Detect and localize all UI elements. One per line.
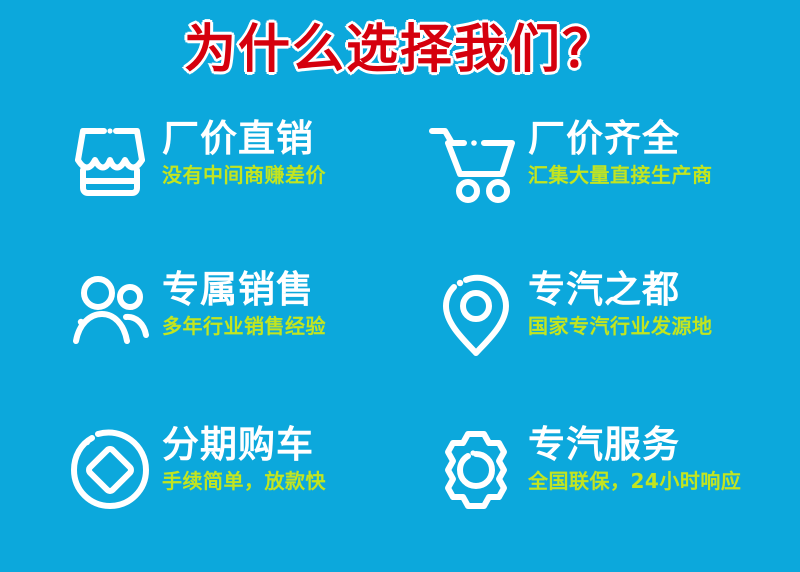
page-title: 为什么选择我们？ <box>184 22 616 79</box>
feature-text-block: 专汽之都 国家专汽行业发源地 <box>528 267 713 338</box>
feature-item-auto-capital: 专汽之都 国家专汽行业发源地 <box>400 267 800 422</box>
circle-diamond-icon <box>62 422 158 518</box>
feature-subtitle: 全国联保，24小时响应 <box>528 470 741 493</box>
feature-item-factory-direct: 厂价直销 没有中间商赚差价 <box>0 112 400 267</box>
feature-title: 专汽之都 <box>528 269 713 310</box>
feature-title: 厂价直销 <box>162 118 326 159</box>
feature-text-block: 厂价直销 没有中间商赚差价 <box>162 112 326 187</box>
feature-title: 专汽服务 <box>528 424 741 465</box>
feature-text-block: 分期购车 手续简单，放款快 <box>162 422 326 493</box>
feature-title: 分期购车 <box>162 424 326 465</box>
feature-text-block: 厂价齐全 汇集大量直接生产商 <box>528 112 713 187</box>
feature-subtitle: 没有中间商赚差价 <box>162 164 326 187</box>
feature-text-block: 专属销售 多年行业销售经验 <box>162 267 326 338</box>
two-people-icon <box>62 267 158 363</box>
shopping-cart-icon <box>428 112 524 208</box>
page-title-container: 为什么选择我们？ <box>0 22 800 79</box>
feature-item-installment: 分期购车 手续简单，放款快 <box>0 422 400 572</box>
feature-subtitle: 多年行业销售经验 <box>162 315 326 338</box>
feature-item-full-range: 厂价齐全 汇集大量直接生产商 <box>400 112 800 267</box>
feature-subtitle: 国家专汽行业发源地 <box>528 315 713 338</box>
map-pin-icon <box>428 267 524 363</box>
promo-banner: 为什么选择我们？ 厂价直销 没有中间商赚差价 <box>0 0 800 567</box>
feature-title: 专属销售 <box>162 269 326 310</box>
feature-title: 厂价齐全 <box>528 118 713 159</box>
feature-item-dedicated-sales: 专属销售 多年行业销售经验 <box>0 267 400 422</box>
feature-subtitle: 汇集大量直接生产商 <box>528 164 713 187</box>
gear-icon <box>428 422 524 518</box>
storefront-icon <box>62 112 158 208</box>
feature-text-block: 专汽服务 全国联保，24小时响应 <box>528 422 741 493</box>
feature-subtitle: 手续简单，放款快 <box>162 470 326 493</box>
feature-item-service: 专汽服务 全国联保，24小时响应 <box>400 422 800 572</box>
feature-grid: 厂价直销 没有中间商赚差价 厂价齐全 汇集大量直接生产商 <box>0 112 800 572</box>
